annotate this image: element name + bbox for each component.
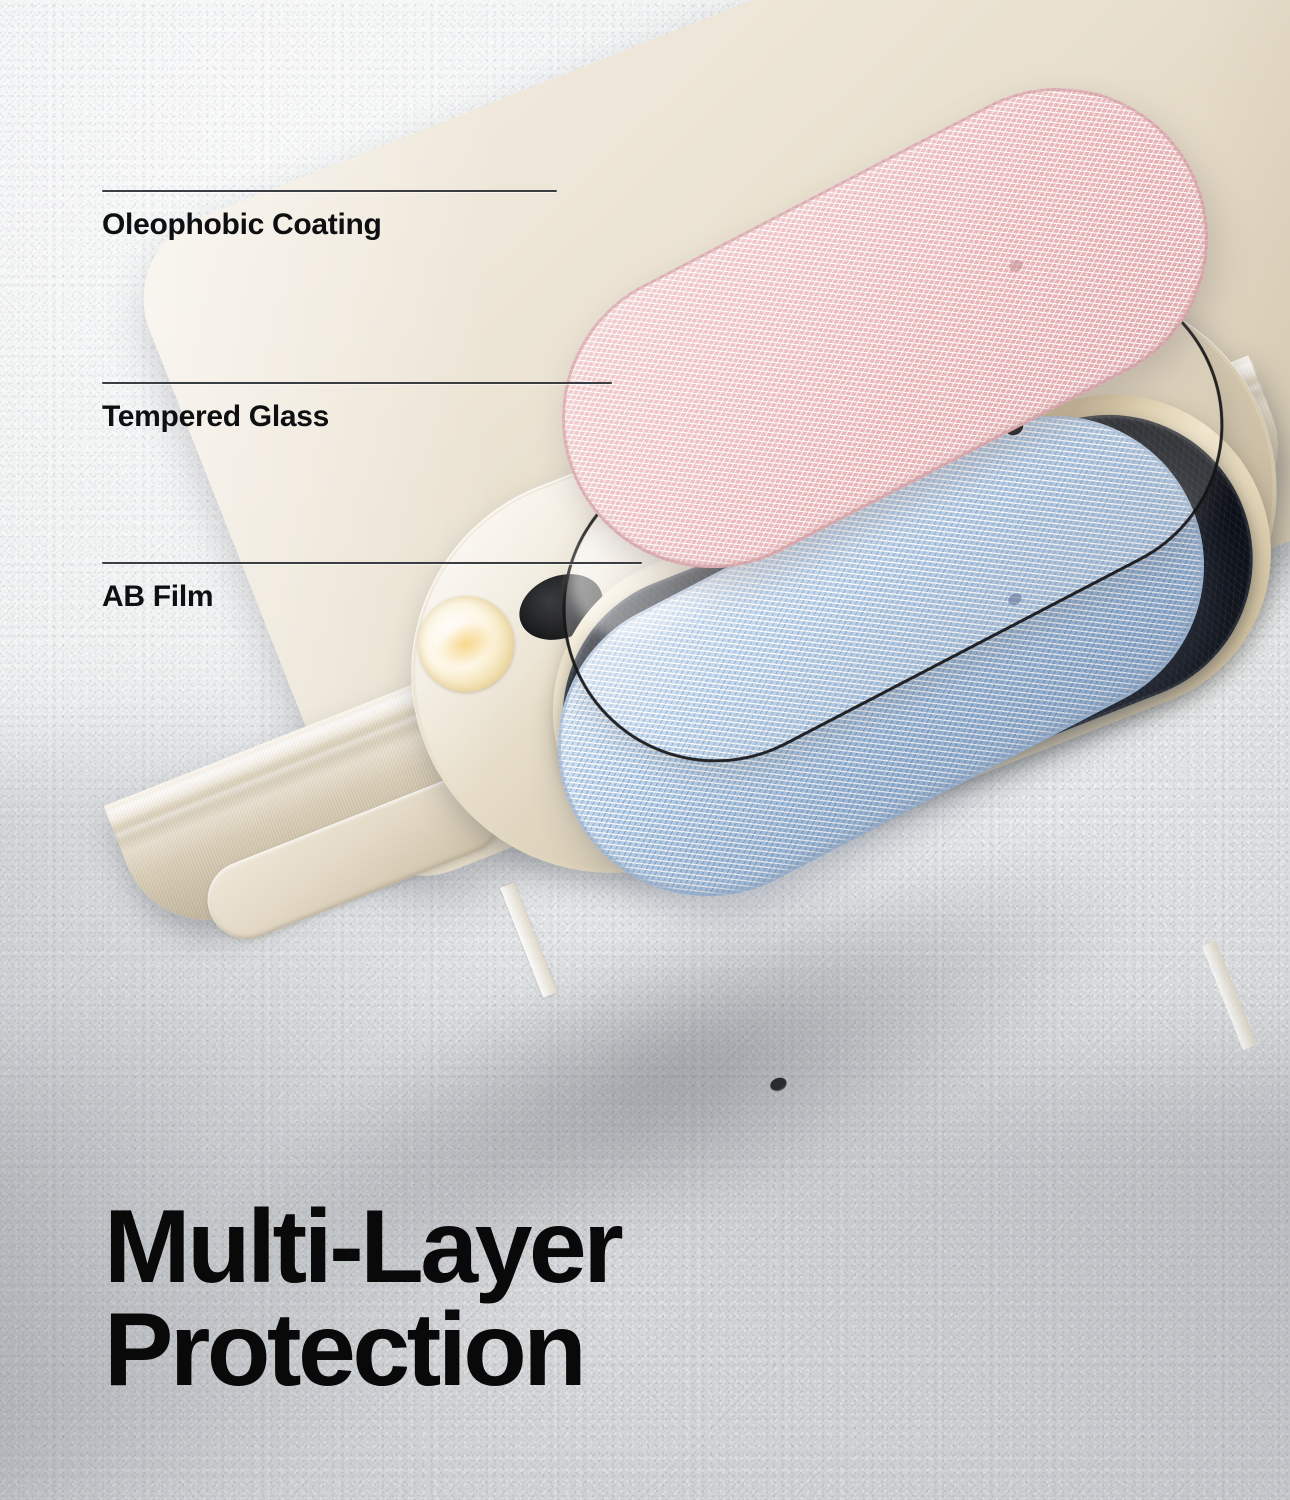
- callout-tempered-glass: Tempered Glass: [102, 382, 612, 433]
- product-hero-image: Oleophobic Coating Tempered Glass AB Fil…: [0, 0, 1290, 1500]
- headline-line-1: Multi-Layer: [104, 1196, 620, 1299]
- headline-line-2: Protection: [104, 1299, 620, 1402]
- callout-label: Oleophobic Coating: [102, 208, 557, 241]
- callout-oleophobic-coating: Oleophobic Coating: [102, 190, 557, 241]
- headline: Multi-Layer Protection: [104, 1196, 620, 1402]
- callout-leader-line: [102, 382, 612, 384]
- callout-label: AB Film: [102, 580, 642, 613]
- callout-leader-line: [102, 562, 642, 564]
- callout-label: Tempered Glass: [102, 400, 612, 433]
- callout-ab-film: AB Film: [102, 562, 642, 613]
- callout-leader-line: [102, 190, 557, 192]
